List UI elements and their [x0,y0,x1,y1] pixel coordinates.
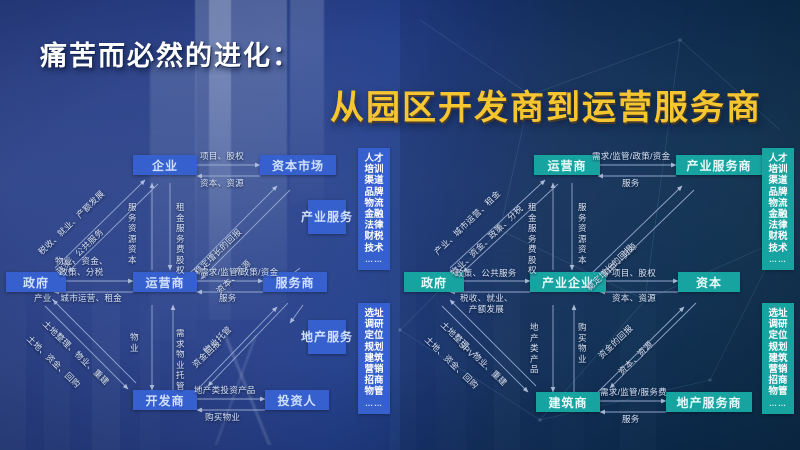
panel-line: 招商 [765,375,791,386]
node-investor[interactable]: 投资人 [265,390,329,410]
node-property-service-provider[interactable]: 地产服务商 [666,392,752,412]
label-gov-operator-top: 物业、资金、 政策、分税 [55,256,108,279]
label-enterprise-capital-top: 项目、股权 [200,151,244,162]
panel-line: 调研 [765,319,791,330]
node-industry-service[interactable]: 产业服务 [308,200,346,234]
node-operator[interactable]: 运营商 [534,155,600,175]
panel-line: 人才 [765,153,791,164]
right-diagram: 运营商 产业服务商 政府 产业企业 资本 建筑商 地产服务商 需求/监管/政策/… [400,140,800,445]
label-gov-industry-top: 政策、公共服务 [455,268,517,279]
node-industry-service-provider[interactable]: 产业服务商 [676,155,762,175]
panel-property-service-items: 选址调研定位规划建筑营销招商物管 …… [762,303,794,414]
label-operator-service-bottom: 服务 [219,293,237,304]
panel-line: 物管 [361,386,387,397]
label-operator-isp-bottom: 服务 [622,178,640,189]
panel-line: 金融 [765,209,791,220]
label-operator-industry-right: 服务 资源 资本 [578,202,587,265]
panel-line: 规划 [765,342,791,353]
title-line-2: 从园区开发商到运营服务商 [0,80,762,129]
node-builder[interactable]: 建筑商 [536,392,600,412]
label-industry-capital-bottom: 资本、资源 [612,293,656,304]
panel-line: 技术 [765,243,791,254]
label-operator-developer-right: 需求 物业托管 [176,328,185,391]
panel-line: 品牌 [361,187,387,198]
panel-line: 法律 [361,220,387,231]
label-builder-psp-bottom: 服务 [622,414,640,425]
panel-industry-service-items: 人才培训渠道品牌物流金融法律财税技术 …… [762,148,794,270]
panel-line: 法律 [765,220,791,231]
panel-line: 选址 [361,308,387,319]
label-operator-enterprise-left: 服务 资源 资本 [128,202,137,265]
title-block: 痛苦而必然的进化： 从园区开发商到运营服务商 [0,34,800,129]
panel-line: 调研 [361,319,387,330]
panel-line: 品牌 [765,187,791,198]
panel-line: 财税 [361,231,387,242]
left-diagram: 企业 资本市场 政府 运营商 服务商 开发商 投资人 产业服务 地产服务 项目、… [0,140,400,445]
panel-line: 技术 [361,243,387,254]
panel-line: 渠道 [361,175,387,186]
panel-line: 营销 [765,364,791,375]
panel-line: 培训 [765,164,791,175]
label-developer-investor-top: 地产类投资产品 [194,385,256,396]
slide-canvas: 痛苦而必然的进化： 从园区开发商到运营服务商 [0,0,800,450]
label-operator-service-top: 需求/监管/政策/资金 [200,267,278,278]
node-operator[interactable]: 运营商 [133,272,197,292]
label-operator-industry-left: 租金 服务费 股权 [528,202,537,276]
label-industry-builder-left: 地产类产品 [530,322,539,375]
node-enterprise[interactable]: 企业 [133,155,197,175]
panel-line: 物流 [361,198,387,209]
panel-ellipsis: …… [765,399,791,408]
title-line-1: 痛苦而必然的进化： [40,34,800,73]
panel-line: 金融 [361,209,387,220]
panel-line: 选址 [765,308,791,319]
panel-property-service-items: 选址调研定位规划建筑营销招商物管 …… [358,303,390,414]
label-industry-builder-right: 购买物业 [578,322,587,364]
node-capital-market[interactable]: 资本市场 [260,155,336,175]
panel-ellipsis: …… [361,399,387,408]
panel-line: 建筑 [765,353,791,364]
label-builder-psp-top: 需求/监管/服务费 [600,387,667,398]
node-developer[interactable]: 开发商 [133,390,197,410]
panel-ellipsis: …… [361,255,387,264]
label-operator-isp-top: 需求/监管/政策/资金 [592,151,670,162]
label-industry-capital-top: 项目、股权 [612,268,656,279]
panel-line: 规划 [361,342,387,353]
panel-line: 财税 [765,231,791,242]
panel-line: 定位 [361,330,387,341]
panel-line: 定位 [765,330,791,341]
panel-industry-service-items: 人才培训渠道品牌物流金融法律财税技术 …… [358,148,390,270]
node-capital[interactable]: 资本 [678,272,740,292]
panel-line: 营销 [361,364,387,375]
panel-line: 培训 [361,164,387,175]
panel-line: 渠道 [765,175,791,186]
panel-line: 建筑 [361,353,387,364]
panel-line: 物管 [765,386,791,397]
panel-line: 人才 [361,153,387,164]
label-developer-investor-bottom: 购买物业 [205,412,240,423]
panel-line: 物流 [765,198,791,209]
label-operator-developer-left: 物业 [130,332,139,353]
label-operator-enterprise-right: 租金 服务费 股权 [176,202,185,276]
node-property-service[interactable]: 地产服务 [308,320,346,354]
panel-line: 招商 [361,375,387,386]
label-gov-industry-bottom: 税收、就业、 产额发展 [460,293,513,316]
label-enterprise-capital-bottom: 资本、资源 [200,178,244,189]
label-gov-operator-bottom: 产业、城市运营、租金 [34,293,122,304]
panel-ellipsis: …… [765,255,791,264]
